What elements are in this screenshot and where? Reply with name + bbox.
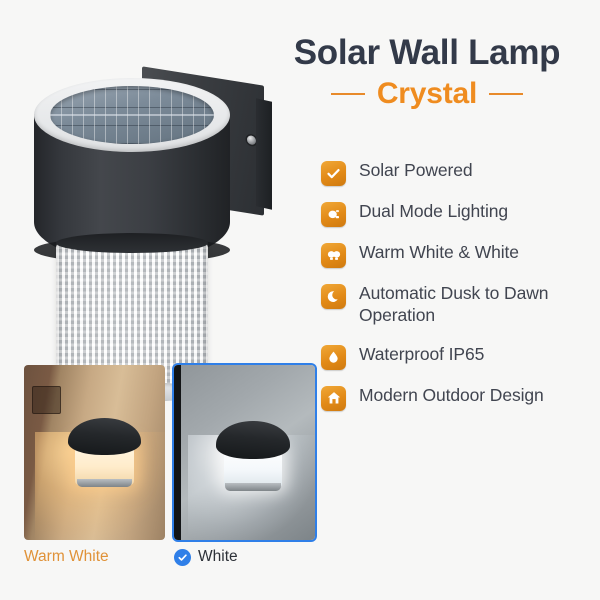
feature-label: Solar Powered: [359, 159, 472, 181]
feature-item-solar-powered: Solar Powered: [321, 159, 596, 186]
feature-label: Waterproof IP65: [359, 343, 484, 365]
thumbnail-warm-white[interactable]: [24, 365, 165, 540]
thumbnail-row: [24, 365, 315, 540]
caption-white-label: White: [198, 548, 238, 566]
feature-item-dual-mode-lighting: Dual Mode Lighting: [321, 200, 596, 227]
lamp-in-photo: [68, 418, 141, 488]
subtitle-row: Crystal: [262, 77, 592, 111]
lamp-hood: [68, 418, 141, 456]
feature-label: Warm White & White: [359, 241, 519, 263]
wall-fixture-box: [32, 386, 60, 414]
caption-warm-white-label: Warm White: [24, 548, 109, 566]
header: Solar Wall Lamp Crystal: [262, 34, 592, 111]
check-icon: [321, 161, 346, 186]
dash-right-decoration: [489, 93, 523, 95]
lamp-base: [77, 479, 133, 487]
dash-left-decoration: [331, 93, 365, 95]
lightbulb-icon: [321, 202, 346, 227]
feature-item-waterproof-ip65: Waterproof IP65: [321, 343, 596, 370]
product-image: [24, 72, 274, 342]
water-drop-icon: [321, 345, 346, 370]
thumbnail-white[interactable]: [174, 365, 315, 540]
page-title: Solar Wall Lamp: [262, 34, 592, 73]
feature-item-automatic-dusk-to-dawn: Automatic Dusk to Dawn Operation: [321, 282, 596, 327]
product-marketing-image: Solar Wall Lamp Crystal Solar Powered: [0, 0, 600, 600]
feature-list: Solar Powered Dual Mode Lighting: [321, 159, 596, 425]
page-subtitle: Crystal: [377, 77, 477, 111]
selected-check-icon: [174, 549, 191, 566]
bracket-edge: [256, 98, 272, 209]
caption-warm-white[interactable]: Warm White: [24, 548, 174, 566]
caption-row: Warm White White: [24, 548, 316, 566]
lamp-in-photo: [216, 421, 289, 491]
house-icon: [321, 386, 346, 411]
solar-panel-icon: [50, 86, 214, 144]
feature-item-warm-white-and-white: Warm White & White: [321, 241, 596, 268]
lamp-hood: [216, 421, 289, 459]
feature-label: Automatic Dusk to Dawn Operation: [359, 282, 596, 327]
lamp-base: [225, 483, 281, 491]
moon-icon: [321, 284, 346, 309]
dual-bulb-icon: [321, 243, 346, 268]
solar-panel-ring: [34, 78, 230, 152]
feature-label: Dual Mode Lighting: [359, 200, 508, 222]
feature-item-modern-outdoor-design: Modern Outdoor Design: [321, 384, 596, 411]
caption-white[interactable]: White: [174, 548, 238, 566]
feature-label: Modern Outdoor Design: [359, 384, 544, 406]
